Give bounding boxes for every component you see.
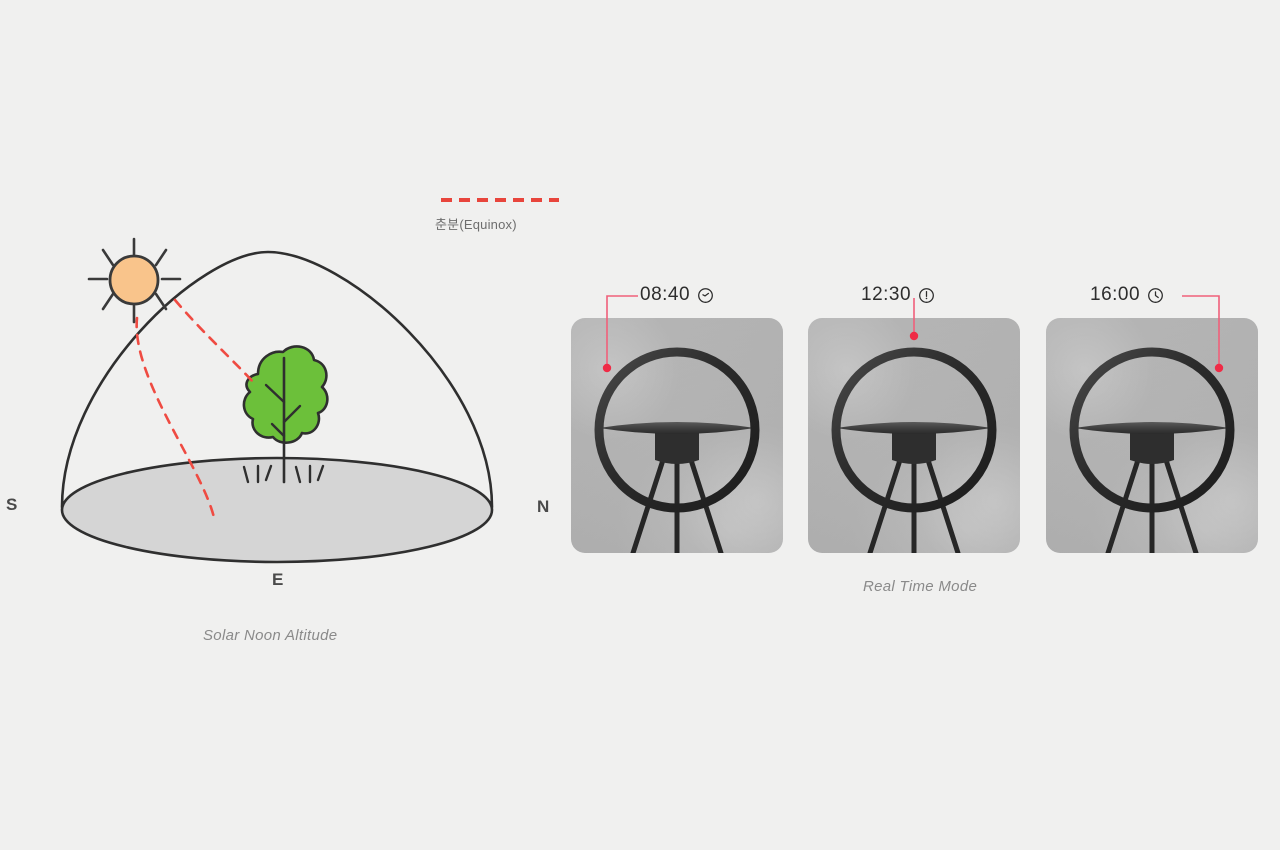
sun-disc [110, 256, 158, 304]
time-text-1230: 12:30 [861, 284, 911, 306]
time-label-1600: 16:00 [1090, 284, 1164, 306]
dome-illustration [0, 230, 540, 660]
equinox-legend: 춘분(Equinox) [435, 198, 605, 233]
time-text-0840: 08:40 [640, 284, 690, 306]
lamp-photo-1600 [1046, 318, 1258, 553]
lamp-render [571, 318, 783, 553]
direction-label-north: N [537, 497, 549, 517]
lamp-photo-1230 [808, 318, 1020, 553]
panel-1600[interactable]: 16:00 [1046, 318, 1258, 553]
clock-morning-icon [697, 287, 714, 304]
tree-canopy [244, 346, 327, 442]
lamp-disc [599, 422, 755, 434]
real-time-mode-panels: 08:40 [571, 318, 1261, 553]
panel-0840[interactable]: 08:40 [571, 318, 783, 553]
equinox-dashed-swatch [441, 198, 559, 202]
panel-1230[interactable]: 12:30 [808, 318, 1020, 553]
direction-label-east: E [272, 570, 283, 590]
lamp-photo-0840 [571, 318, 783, 553]
ground-ellipse [62, 458, 492, 562]
sun-icon [89, 239, 180, 322]
lamp-render [1046, 318, 1258, 553]
direction-label-south: S [6, 495, 17, 515]
slide-canvas: 춘분(Equinox) [0, 0, 1280, 850]
time-label-1230: 12:30 [861, 284, 935, 306]
equinox-ray-to-tree [175, 300, 253, 382]
solar-dome-diagram [0, 230, 540, 660]
time-label-0840: 08:40 [640, 284, 714, 306]
real-time-mode-caption: Real Time Mode [863, 578, 977, 595]
time-text-1600: 16:00 [1090, 284, 1140, 306]
clock-afternoon-icon [1147, 287, 1164, 304]
lamp-render [808, 318, 1020, 553]
solar-noon-altitude-caption: Solar Noon Altitude [203, 627, 337, 644]
lamp-disc [1074, 422, 1230, 434]
lamp-disc [836, 422, 992, 434]
clock-noon-icon [918, 287, 935, 304]
